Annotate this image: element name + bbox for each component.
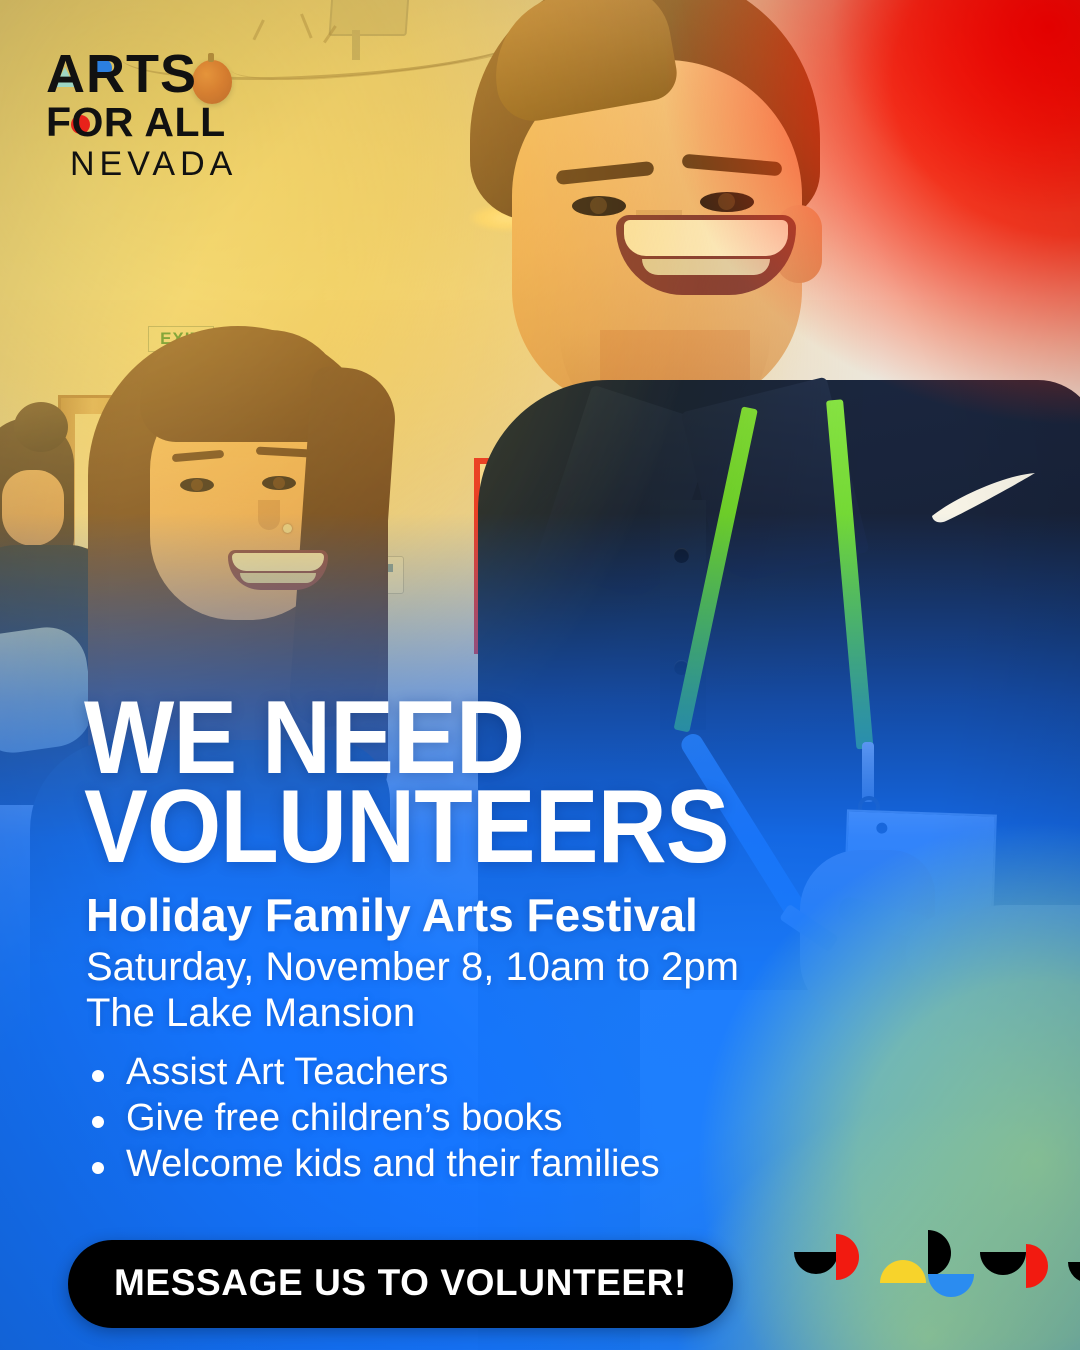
logo-line-arts: ARTS (46, 50, 246, 100)
logo-arts-for-all-nevada[interactable]: ARTS FOR ALL NEVADA (46, 50, 246, 184)
deco-half-circle-1 (794, 1252, 838, 1274)
deco-half-circle-2 (836, 1234, 859, 1280)
logo-arts-text: ARTS (46, 44, 197, 104)
deco-half-circle-5 (928, 1274, 974, 1297)
headline-line-2: VOLUNTEERS (84, 783, 729, 872)
logo-line-for-all: FOR ALL (46, 100, 246, 142)
logo-forall-wordmark: FOR ALL (46, 104, 226, 142)
deco-half-circle-3 (880, 1260, 926, 1283)
event-title: Holiday Family Arts Festival (86, 888, 698, 942)
poster-canvas: EXIT ev c (0, 0, 1080, 1350)
deco-half-circle-6 (980, 1252, 1026, 1275)
deco-half-circle-4 (928, 1230, 951, 1276)
message-us-to-volunteer-button[interactable]: MESSAGE US TO VOLUNTEER! (68, 1240, 733, 1328)
logo-arts-wordmark: ARTS (46, 50, 197, 100)
event-datetime: Saturday, November 8, 10am to 2pm (86, 944, 739, 990)
list-item: Welcome kids and their families (86, 1142, 660, 1188)
logo-nevada-text: NEVADA (70, 145, 246, 184)
event-venue: The Lake Mansion (86, 990, 739, 1036)
decorative-half-circles (780, 1230, 1070, 1320)
deco-half-circle-7 (1026, 1244, 1048, 1288)
logo-forall-text: FOR ALL (46, 99, 226, 145)
page-title: WE NEED VOLUNTEERS (84, 694, 729, 873)
list-item: Give free children’s books (86, 1096, 660, 1142)
event-details: Saturday, November 8, 10am to 2pm The La… (86, 944, 739, 1037)
list-item: Assist Art Teachers (86, 1050, 660, 1096)
volunteer-task-list: Assist Art Teachers Give free children’s… (86, 1050, 660, 1188)
